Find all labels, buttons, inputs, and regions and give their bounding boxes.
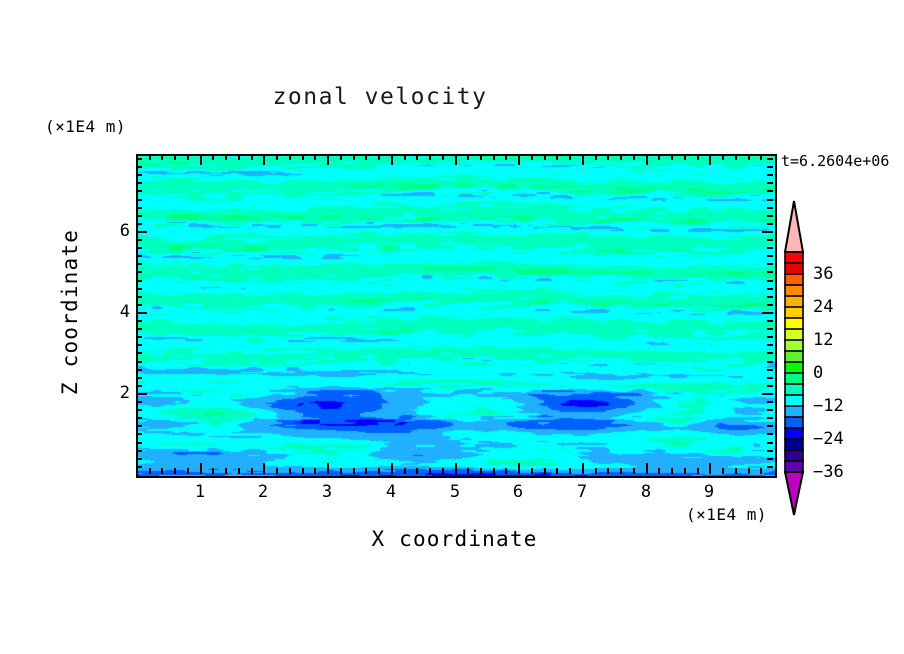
x-major-tick <box>518 463 520 474</box>
x-minor-tick-top <box>531 154 533 160</box>
x-minor-tick <box>174 468 176 474</box>
x-minor-tick-top <box>620 154 622 160</box>
colorbar-band <box>785 428 803 439</box>
page-title: zonal velocity <box>0 84 760 110</box>
x-minor-tick <box>225 468 227 474</box>
x-tick-label: 4 <box>379 482 403 502</box>
y-minor-tick-right <box>767 223 773 225</box>
colorbar-band <box>785 329 803 340</box>
colorbar-tick-label: −36 <box>813 462 844 482</box>
x-minor-tick-top <box>722 154 724 160</box>
x-major-tick <box>582 463 584 474</box>
y-minor-tick-right <box>767 190 773 192</box>
y-minor-tick <box>136 336 142 338</box>
y-minor-tick <box>136 255 142 257</box>
y-minor-tick-right <box>767 433 773 435</box>
x-minor-tick-top <box>416 154 418 160</box>
y-minor-tick-right <box>767 385 773 387</box>
x-minor-tick <box>684 468 686 474</box>
x-major-tick <box>200 463 202 474</box>
y-minor-tick <box>136 466 142 468</box>
y-tick-label: 2 <box>106 383 130 403</box>
x-minor-tick <box>149 468 151 474</box>
x-minor-tick <box>302 468 304 474</box>
x-tick-label: 5 <box>443 482 467 502</box>
y-major-tick-right <box>762 393 773 395</box>
y-minor-tick-right <box>767 450 773 452</box>
colorbar-band <box>785 373 803 384</box>
x-minor-tick <box>187 468 189 474</box>
colorbar <box>783 200 805 516</box>
x-minor-tick-top <box>149 154 151 160</box>
colorbar-band <box>785 296 803 307</box>
y-minor-tick-right <box>767 280 773 282</box>
x-minor-tick <box>467 468 469 474</box>
x-minor-tick <box>748 468 750 474</box>
x-minor-tick-top <box>735 154 737 160</box>
x-minor-tick-top <box>684 154 686 160</box>
y-minor-tick <box>136 190 142 192</box>
x-minor-tick-top <box>569 154 571 160</box>
y-minor-tick-right <box>767 344 773 346</box>
y-minor-tick-right <box>767 377 773 379</box>
x-minor-tick <box>429 468 431 474</box>
timestamp-annotation: t=6.2604e+06 <box>781 152 889 170</box>
x-minor-tick-top <box>505 154 507 160</box>
x-minor-tick <box>556 468 558 474</box>
x-tick-label: 3 <box>315 482 339 502</box>
x-minor-tick <box>480 468 482 474</box>
y-minor-tick-right <box>767 458 773 460</box>
x-minor-tick-top <box>429 154 431 160</box>
y-minor-tick-right <box>767 158 773 160</box>
x-major-tick <box>263 463 265 474</box>
y-tick-label: 4 <box>106 302 130 322</box>
x-minor-tick <box>416 468 418 474</box>
y-minor-tick <box>136 239 142 241</box>
y-tick-label: 6 <box>106 221 130 241</box>
x-minor-tick <box>671 468 673 474</box>
x-minor-tick <box>340 468 342 474</box>
x-minor-tick-top <box>442 154 444 160</box>
x-minor-tick <box>314 468 316 474</box>
y-minor-tick <box>136 296 142 298</box>
y-minor-tick <box>136 377 142 379</box>
x-major-tick <box>709 463 711 474</box>
x-minor-tick-top <box>276 154 278 160</box>
y-minor-tick <box>136 174 142 176</box>
x-minor-tick-top <box>187 154 189 160</box>
x-minor-tick-top <box>340 154 342 160</box>
x-minor-tick <box>544 468 546 474</box>
x-minor-tick <box>722 468 724 474</box>
x-minor-tick-top <box>467 154 469 160</box>
y-minor-tick <box>136 344 142 346</box>
x-minor-tick <box>238 468 240 474</box>
x-major-tick-top <box>391 154 393 165</box>
x-minor-tick-top <box>544 154 546 160</box>
y-minor-tick-right <box>767 328 773 330</box>
y-minor-tick-right <box>767 352 773 354</box>
colorbar-tick-label: 24 <box>813 297 833 317</box>
x-major-tick-top <box>327 154 329 165</box>
x-axis-unit-label: (×1E4 m) <box>686 505 767 524</box>
colorbar-band <box>785 384 803 395</box>
x-minor-tick-top <box>493 154 495 160</box>
x-major-tick-top <box>455 154 457 165</box>
colorbar-band <box>785 406 803 417</box>
y-minor-tick <box>136 328 142 330</box>
x-minor-tick <box>569 468 571 474</box>
y-minor-tick <box>136 280 142 282</box>
colorbar-tick-label: −24 <box>813 429 844 449</box>
x-major-tick-top <box>646 154 648 165</box>
colorbar-band <box>785 395 803 406</box>
colorbar-band <box>785 417 803 428</box>
x-minor-tick <box>251 468 253 474</box>
y-minor-tick-right <box>767 215 773 217</box>
y-minor-tick <box>136 166 142 168</box>
colorbar-tick-label: 0 <box>813 363 823 383</box>
y-minor-tick <box>136 158 142 160</box>
y-minor-tick <box>136 247 142 249</box>
y-minor-tick-right <box>767 401 773 403</box>
x-major-tick <box>455 463 457 474</box>
contour-plot-area <box>136 154 777 478</box>
y-minor-tick-right <box>767 425 773 427</box>
y-axis-title: Z coordinate <box>58 222 82 402</box>
y-minor-tick-right <box>767 255 773 257</box>
x-tick-label: 2 <box>251 482 275 502</box>
y-major-tick-right <box>762 231 773 233</box>
x-minor-tick-top <box>365 154 367 160</box>
y-minor-tick-right <box>767 361 773 363</box>
x-minor-tick <box>365 468 367 474</box>
colorbar-band <box>785 351 803 362</box>
y-minor-tick-right <box>767 336 773 338</box>
x-minor-tick-top <box>353 154 355 160</box>
y-minor-tick <box>136 304 142 306</box>
x-minor-tick-top <box>556 154 558 160</box>
colorbar-over-arrow <box>785 201 803 252</box>
y-minor-tick <box>136 385 142 387</box>
colorbar-band <box>785 285 803 296</box>
x-minor-tick-top <box>658 154 660 160</box>
colorbar-tick-label: −12 <box>813 396 844 416</box>
y-minor-tick-right <box>767 409 773 411</box>
x-major-tick <box>327 463 329 474</box>
x-minor-tick-top <box>238 154 240 160</box>
x-minor-tick <box>378 468 380 474</box>
x-major-tick-top <box>518 154 520 165</box>
x-minor-tick <box>735 468 737 474</box>
x-minor-tick-top <box>225 154 227 160</box>
y-minor-tick-right <box>767 320 773 322</box>
y-minor-tick-right <box>767 199 773 201</box>
x-minor-tick <box>697 468 699 474</box>
colorbar-band <box>785 252 803 263</box>
x-minor-tick-top <box>595 154 597 160</box>
x-minor-tick <box>276 468 278 474</box>
x-minor-tick <box>353 468 355 474</box>
x-minor-tick-top <box>760 154 762 160</box>
colorbar-tick-label: 12 <box>813 330 833 350</box>
x-minor-tick-top <box>633 154 635 160</box>
y-axis-unit-label: (×1E4 m) <box>45 117 126 136</box>
y-minor-tick <box>136 207 142 209</box>
x-minor-tick <box>442 468 444 474</box>
colorbar-tick-label: 36 <box>813 264 833 284</box>
x-major-tick <box>646 463 648 474</box>
y-minor-tick-right <box>767 247 773 249</box>
x-minor-tick <box>658 468 660 474</box>
y-minor-tick <box>136 361 142 363</box>
x-minor-tick-top <box>607 154 609 160</box>
x-minor-tick <box>760 468 762 474</box>
x-major-tick-top <box>582 154 584 165</box>
y-major-tick-right <box>762 312 773 314</box>
colorbar-band <box>785 318 803 329</box>
y-minor-tick-right <box>767 304 773 306</box>
y-minor-tick-right <box>767 442 773 444</box>
y-minor-tick <box>136 352 142 354</box>
y-minor-tick <box>136 182 142 184</box>
x-major-tick-top <box>263 154 265 165</box>
x-minor-tick <box>620 468 622 474</box>
x-tick-label: 7 <box>570 482 594 502</box>
y-minor-tick-right <box>767 182 773 184</box>
x-minor-tick <box>505 468 507 474</box>
y-minor-tick-right <box>767 417 773 419</box>
x-tick-label: 8 <box>634 482 658 502</box>
x-minor-tick-top <box>671 154 673 160</box>
contour-field-canvas <box>138 156 775 476</box>
y-minor-tick <box>136 288 142 290</box>
x-minor-tick-top <box>748 154 750 160</box>
y-minor-tick <box>136 433 142 435</box>
colorbar-band <box>785 263 803 274</box>
y-minor-tick-right <box>767 271 773 273</box>
y-major-tick <box>136 393 147 395</box>
x-minor-tick-top <box>314 154 316 160</box>
x-minor-tick-top <box>697 154 699 160</box>
colorbar-band <box>785 340 803 351</box>
x-tick-label: 1 <box>188 482 212 502</box>
x-major-tick-top <box>709 154 711 165</box>
x-minor-tick <box>289 468 291 474</box>
y-minor-tick <box>136 450 142 452</box>
colorbar-band <box>785 450 803 461</box>
x-major-tick-top <box>200 154 202 165</box>
colorbar-band <box>785 274 803 285</box>
y-minor-tick <box>136 215 142 217</box>
colorbar-band <box>785 439 803 450</box>
x-minor-tick <box>404 468 406 474</box>
y-minor-tick-right <box>767 466 773 468</box>
x-minor-tick <box>607 468 609 474</box>
y-major-tick <box>136 312 147 314</box>
x-minor-tick <box>531 468 533 474</box>
x-minor-tick <box>161 468 163 474</box>
x-minor-tick <box>493 468 495 474</box>
y-minor-tick <box>136 458 142 460</box>
x-minor-tick-top <box>212 154 214 160</box>
x-minor-tick <box>595 468 597 474</box>
y-minor-tick-right <box>767 296 773 298</box>
y-minor-tick-right <box>767 174 773 176</box>
y-minor-tick <box>136 442 142 444</box>
x-minor-tick-top <box>289 154 291 160</box>
x-minor-tick <box>633 468 635 474</box>
x-axis-title: X coordinate <box>136 527 773 551</box>
x-minor-tick-top <box>404 154 406 160</box>
x-minor-tick-top <box>174 154 176 160</box>
y-minor-tick <box>136 271 142 273</box>
colorbar-band <box>785 461 803 472</box>
x-tick-label: 9 <box>697 482 721 502</box>
y-minor-tick-right <box>767 239 773 241</box>
y-minor-tick-right <box>767 207 773 209</box>
y-minor-tick <box>136 263 142 265</box>
x-minor-tick-top <box>251 154 253 160</box>
y-minor-tick <box>136 320 142 322</box>
y-minor-tick <box>136 425 142 427</box>
y-major-tick <box>136 231 147 233</box>
x-major-tick <box>391 463 393 474</box>
y-minor-tick-right <box>767 369 773 371</box>
y-minor-tick <box>136 417 142 419</box>
x-minor-tick-top <box>302 154 304 160</box>
y-minor-tick <box>136 223 142 225</box>
y-minor-tick <box>136 409 142 411</box>
y-minor-tick <box>136 369 142 371</box>
colorbar-under-arrow <box>785 472 803 515</box>
x-minor-tick-top <box>378 154 380 160</box>
colorbar-band <box>785 362 803 373</box>
y-minor-tick-right <box>767 166 773 168</box>
y-minor-tick <box>136 199 142 201</box>
x-minor-tick-top <box>161 154 163 160</box>
y-minor-tick-right <box>767 288 773 290</box>
x-tick-label: 6 <box>506 482 530 502</box>
x-minor-tick <box>212 468 214 474</box>
x-minor-tick-top <box>480 154 482 160</box>
y-minor-tick-right <box>767 263 773 265</box>
colorbar-band <box>785 307 803 318</box>
y-minor-tick <box>136 401 142 403</box>
